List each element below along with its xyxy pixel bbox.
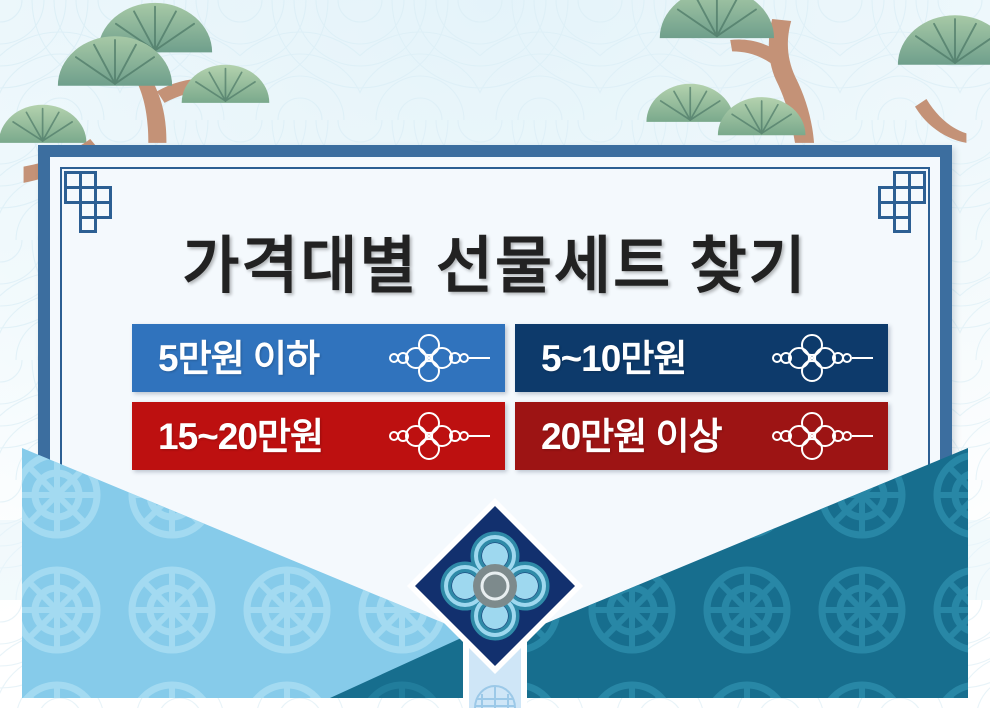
korean-knot-icon — [383, 334, 491, 382]
price-button-label: 5~10만원 — [541, 340, 686, 377]
korean-knot-icon — [766, 334, 874, 382]
price-button-50000-to-100000[interactable]: 5~10만원 — [515, 324, 888, 392]
korean-knot-icon — [383, 412, 491, 460]
promo-banner: 가격대별 선물세트 찾기 5만원 이하 — [0, 0, 990, 708]
price-button-label: 15~20만원 — [158, 418, 323, 455]
price-range-button-grid: 5만원 이하 — [132, 324, 888, 470]
price-button-over-200000[interactable]: 20만원 이상 — [515, 402, 888, 470]
page-title: 가격대별 선물세트 찾기 — [50, 215, 940, 305]
price-button-label: 5만원 이하 — [158, 340, 319, 377]
framed-card: 가격대별 선물세트 찾기 5만원 이하 — [38, 145, 952, 685]
price-button-label: 20만원 이상 — [541, 418, 722, 455]
price-button-150000-to-200000[interactable]: 15~20만원 — [132, 402, 505, 470]
korean-knot-icon — [766, 412, 874, 460]
price-button-under-50000[interactable]: 5만원 이하 — [132, 324, 505, 392]
